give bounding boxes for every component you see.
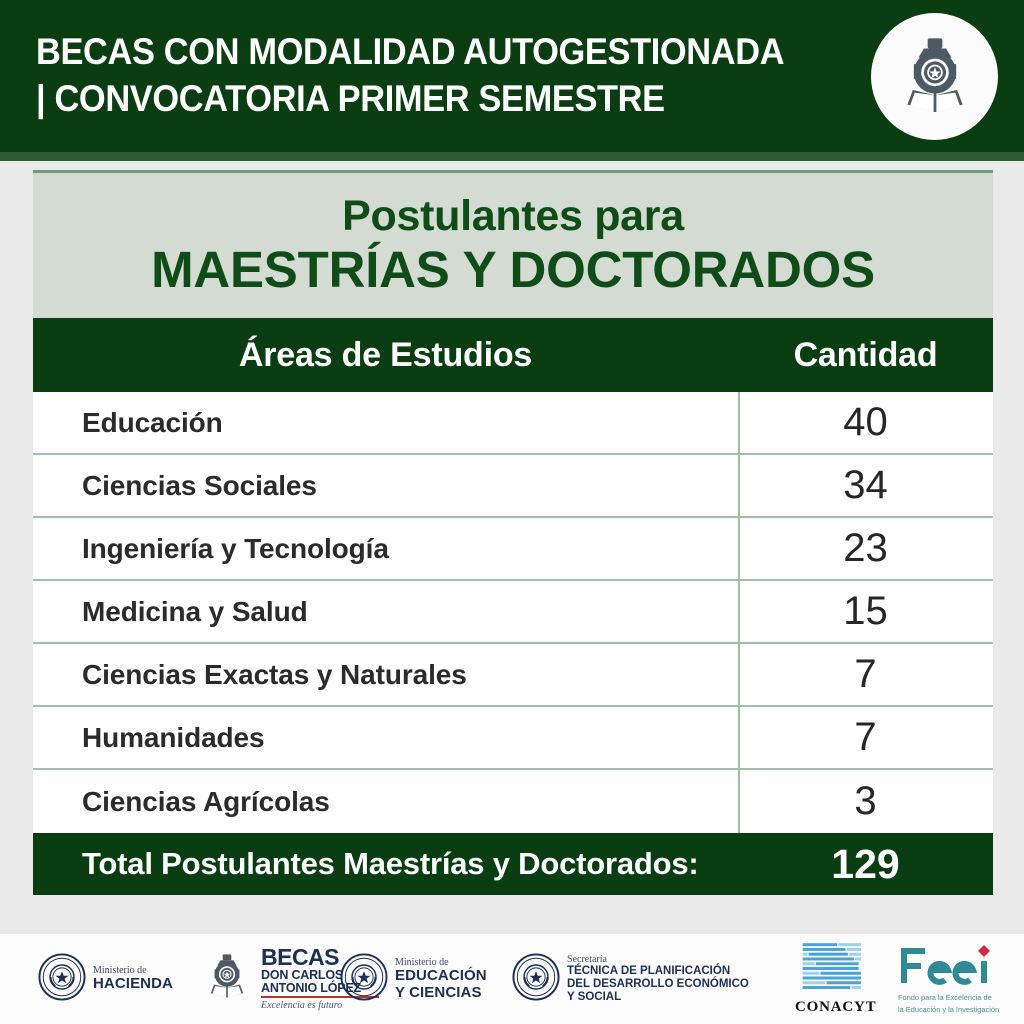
cell-cantidad: 7 xyxy=(738,652,993,697)
ciencias-label: Y CIENCIAS xyxy=(395,985,487,1002)
footer-logo-text: Ministerio de HACIENDA xyxy=(93,965,173,993)
cell-area: Educación xyxy=(33,407,738,439)
conacyt-bars-icon xyxy=(800,942,872,997)
stats-card: Postulantes para MAESTRÍAS Y DOCTORADOS … xyxy=(33,170,993,895)
becas-kepi-book-icon xyxy=(871,13,998,140)
cell-cantidad: 40 xyxy=(738,400,993,445)
stp-line-3: Y SOCIAL xyxy=(567,991,749,1004)
becas-kepi-book-icon xyxy=(200,950,254,1009)
cell-area: Ciencias Sociales xyxy=(33,470,738,502)
footer-logo-ministerio-educacion: Ministerio de EDUCACIÓN Y CIENCIAS xyxy=(340,934,487,1024)
republica-del-paraguay-seal-icon xyxy=(38,953,86,1006)
footer-logo-conacyt: CONACYT xyxy=(795,934,876,1024)
table-row: Educación 40 xyxy=(33,392,993,455)
stp-line-1: TÉCNICA DE PLANIFICACIÓN xyxy=(567,965,749,978)
table-row: Ciencias Sociales 34 xyxy=(33,455,993,518)
footer-logo-stp: Secretaría TÉCNICA DE PLANIFICACIÓN DEL … xyxy=(512,934,749,1024)
footer-logo-bar: Ministerio de HACIENDA xyxy=(0,934,1024,1024)
footer-logo-ministerio-hacienda: Ministerio de HACIENDA xyxy=(38,934,173,1024)
footer-logo-text: Ministerio de EDUCACIÓN Y CIENCIAS xyxy=(395,957,487,1002)
card-title-large: MAESTRÍAS Y DOCTORADOS xyxy=(33,241,993,298)
table-row: Ingeniería y Tecnología 23 xyxy=(33,518,993,581)
cell-cantidad: 7 xyxy=(738,715,993,760)
cell-cantidad: 23 xyxy=(738,526,993,571)
table-row: Ciencias Exactas y Naturales 7 xyxy=(33,644,993,707)
cell-area: Medicina y Salud xyxy=(33,596,738,628)
column-header-cantidad: Cantidad xyxy=(738,336,993,375)
header-title-group: BECAS CON MODALIDAD AUTOGESTIONADA | CON… xyxy=(36,28,856,122)
cell-area: Ingeniería y Tecnología xyxy=(33,533,738,565)
footer-logo-feei: Fondo para la Excelencia de la Educación… xyxy=(898,934,999,1024)
table-body: Educación 40 Ciencias Sociales 34 Ingeni… xyxy=(33,392,993,833)
cell-cantidad: 15 xyxy=(738,589,993,634)
cell-cantidad: 3 xyxy=(738,779,993,824)
secretaria-label: Secretaría xyxy=(567,954,749,965)
stp-line-2: DEL DESARROLLO ECONÓMICO xyxy=(567,978,749,991)
card-title-small: Postulantes para xyxy=(33,191,993,241)
feei-logo-group: Fondo para la Excelencia de la Educación… xyxy=(898,944,999,1014)
header-title-line-1: BECAS CON MODALIDAD AUTOGESTIONADA xyxy=(36,28,799,75)
feei-tagline-1: Fondo para la Excelencia de xyxy=(898,993,992,1002)
table-row: Medicina y Salud 15 xyxy=(33,581,993,644)
table-row: Humanidades 7 xyxy=(33,707,993,770)
page-header: BECAS CON MODALIDAD AUTOGESTIONADA | CON… xyxy=(0,0,1024,152)
educacion-label: EDUCACIÓN xyxy=(395,968,487,985)
republica-del-paraguay-seal-icon xyxy=(512,953,560,1006)
table-total-row: Total Postulantes Maestrías y Doctorados… xyxy=(33,833,993,895)
header-accent-strip xyxy=(0,152,1024,161)
conacyt-logo-group: CONACYT xyxy=(795,942,876,1016)
cell-area: Ciencias Exactas y Naturales xyxy=(33,659,738,691)
total-label: Total Postulantes Maestrías y Doctorados… xyxy=(33,846,738,882)
total-value: 129 xyxy=(738,841,993,888)
table-header-row: Áreas de Estudios Cantidad xyxy=(33,318,993,392)
feei-tagline-2: la Educación y la Investigación xyxy=(898,1005,999,1014)
card-title-band: Postulantes para MAESTRÍAS Y DOCTORADOS xyxy=(33,170,993,318)
footer-logo-text: Secretaría TÉCNICA DE PLANIFICACIÓN DEL … xyxy=(567,954,749,1004)
table-row: Ciencias Agrícolas 3 xyxy=(33,770,993,833)
header-title-line-2: | CONVOCATORIA PRIMER SEMESTRE xyxy=(36,75,799,122)
cell-cantidad: 34 xyxy=(738,463,993,508)
hacienda-label: HACIENDA xyxy=(93,976,173,993)
republica-del-paraguay-seal-icon xyxy=(340,953,388,1006)
cell-area: Humanidades xyxy=(33,722,738,754)
column-header-areas: Áreas de Estudios xyxy=(33,336,738,375)
cell-area: Ciencias Agrícolas xyxy=(33,786,738,818)
feei-wordmark-icon xyxy=(898,944,998,991)
conacyt-wordmark: CONACYT xyxy=(795,999,876,1016)
